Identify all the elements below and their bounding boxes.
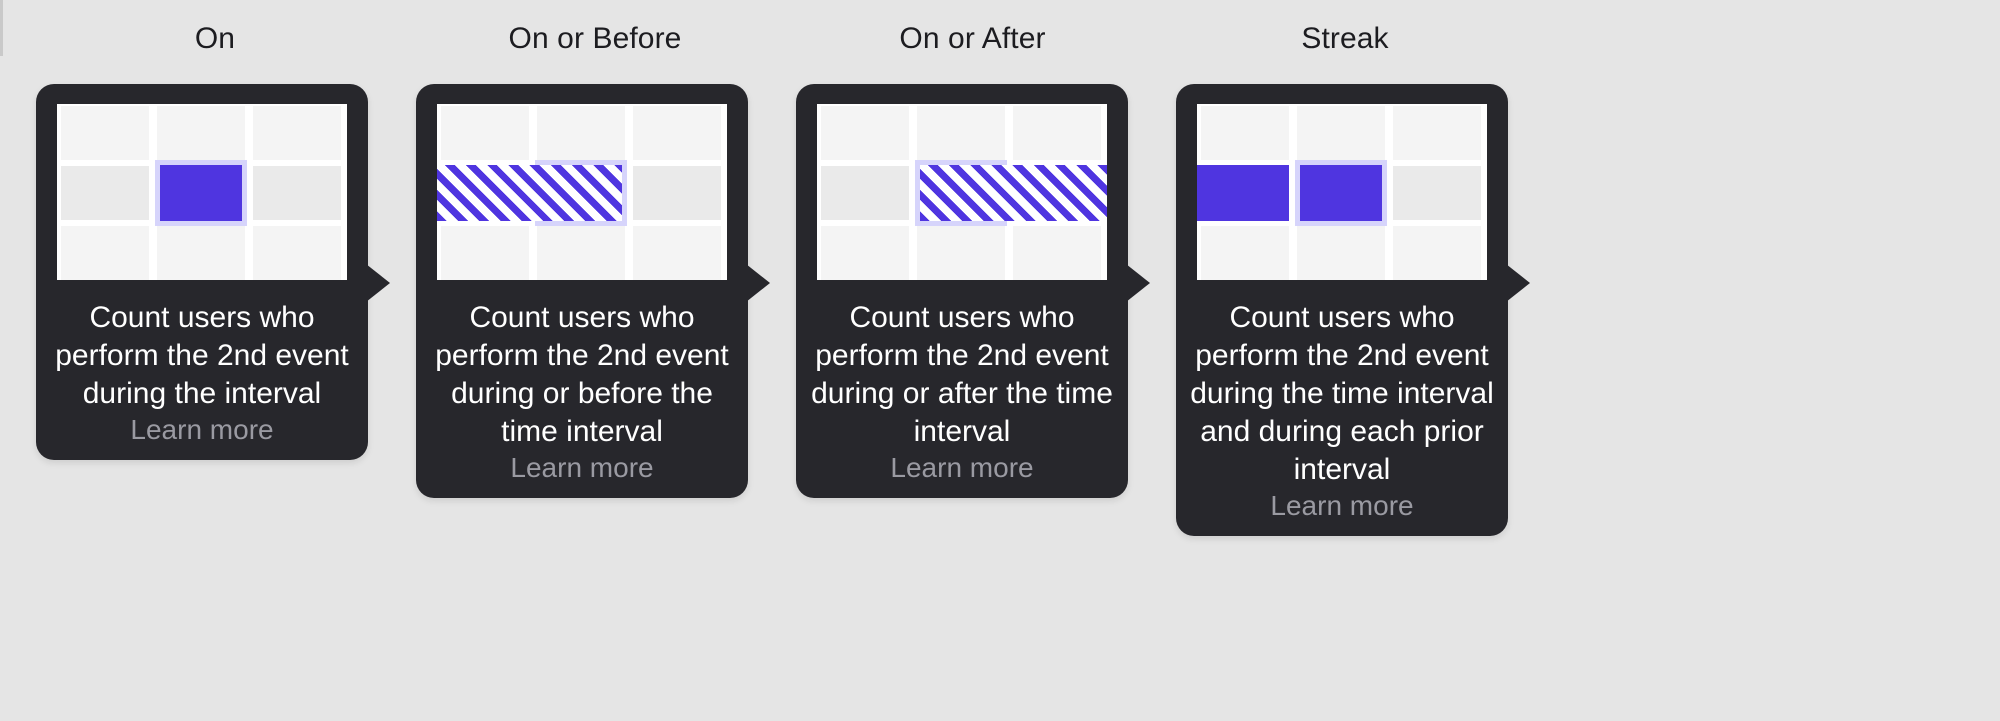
event-bar-solid — [1300, 165, 1382, 221]
grid-cell — [1393, 166, 1481, 220]
grid-cell — [917, 226, 1005, 280]
card-pointer-icon — [746, 264, 770, 302]
grid-cell — [633, 166, 721, 220]
card-description-on-or-after: Count users who perform the 2nd event du… — [796, 299, 1128, 451]
card-description-streak: Count users who perform the 2nd event du… — [1176, 299, 1508, 489]
card-description-on-or-before: Count users who perform the 2nd event du… — [416, 299, 748, 451]
column-header-on-or-after: On or After — [855, 22, 1090, 56]
event-bar-solid — [160, 165, 242, 221]
column-header-on-or-before: On or Before — [470, 22, 720, 56]
card-on-or-after[interactable]: Count users who perform the 2nd event du… — [796, 84, 1128, 498]
diagram-on-or-before — [437, 104, 727, 280]
grid-cell — [253, 106, 341, 160]
grid-cell — [1201, 226, 1289, 280]
event-bar-hatched — [920, 165, 1107, 221]
grid-cell — [61, 106, 149, 160]
grid-cell — [253, 226, 341, 280]
event-bar-solid — [1197, 165, 1289, 221]
diagram-streak — [1197, 104, 1487, 280]
column-header-on: On — [120, 22, 310, 56]
grid-cell — [1297, 226, 1385, 280]
card-on[interactable]: Count users who perform the 2nd event du… — [36, 84, 368, 460]
grid-cell — [157, 226, 245, 280]
diagram-on-or-after — [817, 104, 1107, 280]
card-description-on: Count users who perform the 2nd event du… — [36, 299, 368, 413]
learn-more-link-streak[interactable]: Learn more — [1176, 488, 1508, 524]
grid-cell — [1393, 226, 1481, 280]
grid-cell — [821, 226, 909, 280]
grid-cell — [441, 226, 529, 280]
grid-cell — [441, 106, 529, 160]
card-streak[interactable]: Count users who perform the 2nd event du… — [1176, 84, 1508, 536]
grid-cell — [917, 106, 1005, 160]
grid-cell — [1201, 106, 1289, 160]
comparison-board: On On or Before On or After Streak Count… — [0, 0, 2000, 721]
event-bar-hatched — [437, 165, 622, 221]
grid-cell — [157, 106, 245, 160]
grid-cell — [537, 226, 625, 280]
card-on-or-before[interactable]: Count users who perform the 2nd event du… — [416, 84, 748, 498]
learn-more-link-on-or-before[interactable]: Learn more — [416, 450, 748, 486]
grid-cell — [1013, 226, 1101, 280]
grid-cell — [633, 106, 721, 160]
grid-cell — [821, 166, 909, 220]
grid-cell — [821, 106, 909, 160]
grid-cell — [61, 226, 149, 280]
grid-cell — [537, 106, 625, 160]
grid-cell — [1013, 106, 1101, 160]
grid-cell — [1393, 106, 1481, 160]
diagram-on — [57, 104, 347, 280]
column-headers: On On or Before On or After Streak — [0, 0, 2000, 78]
learn-more-link-on-or-after[interactable]: Learn more — [796, 450, 1128, 486]
column-header-streak: Streak — [1250, 22, 1440, 56]
grid-cell — [61, 166, 149, 220]
grid-cell — [253, 166, 341, 220]
grid-cell — [1297, 106, 1385, 160]
card-pointer-icon — [1126, 264, 1150, 302]
card-pointer-icon — [366, 264, 390, 302]
grid-cell — [633, 226, 721, 280]
card-pointer-icon — [1506, 264, 1530, 302]
learn-more-link-on[interactable]: Learn more — [36, 412, 368, 448]
